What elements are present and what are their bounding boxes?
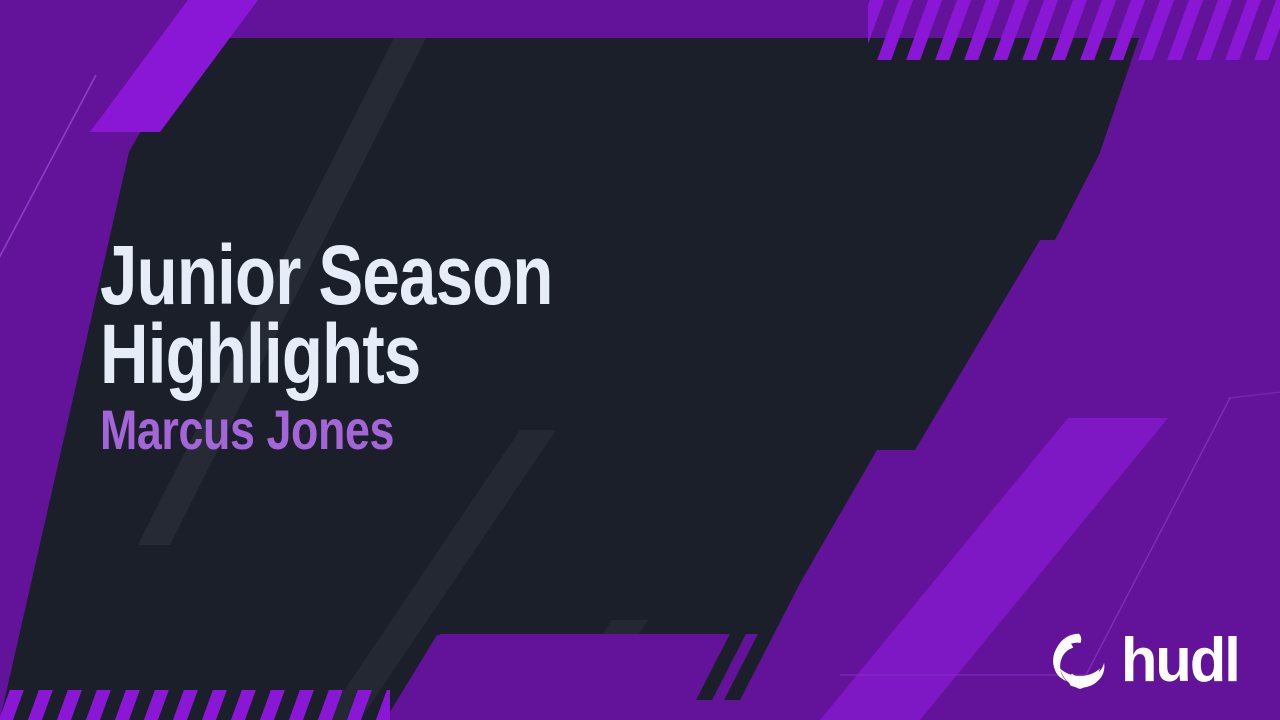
hudl-pinwheel-icon: [1049, 630, 1111, 692]
title-block: Junior Season Highlights Marcus Jones: [100, 236, 800, 458]
title-line-2: Highlights: [100, 315, 660, 394]
highlight-title-card: Junior Season Highlights Marcus Jones hu…: [0, 0, 1280, 720]
stripe-band-top-right: [868, 0, 1280, 60]
title-line-1: Junior Season: [100, 236, 660, 315]
stripe-band-bottom-left: [0, 690, 390, 720]
hudl-wordmark: hudl: [1121, 630, 1239, 692]
athlete-name: Marcus Jones: [100, 402, 660, 458]
hudl-logo: hudl: [1049, 630, 1244, 692]
